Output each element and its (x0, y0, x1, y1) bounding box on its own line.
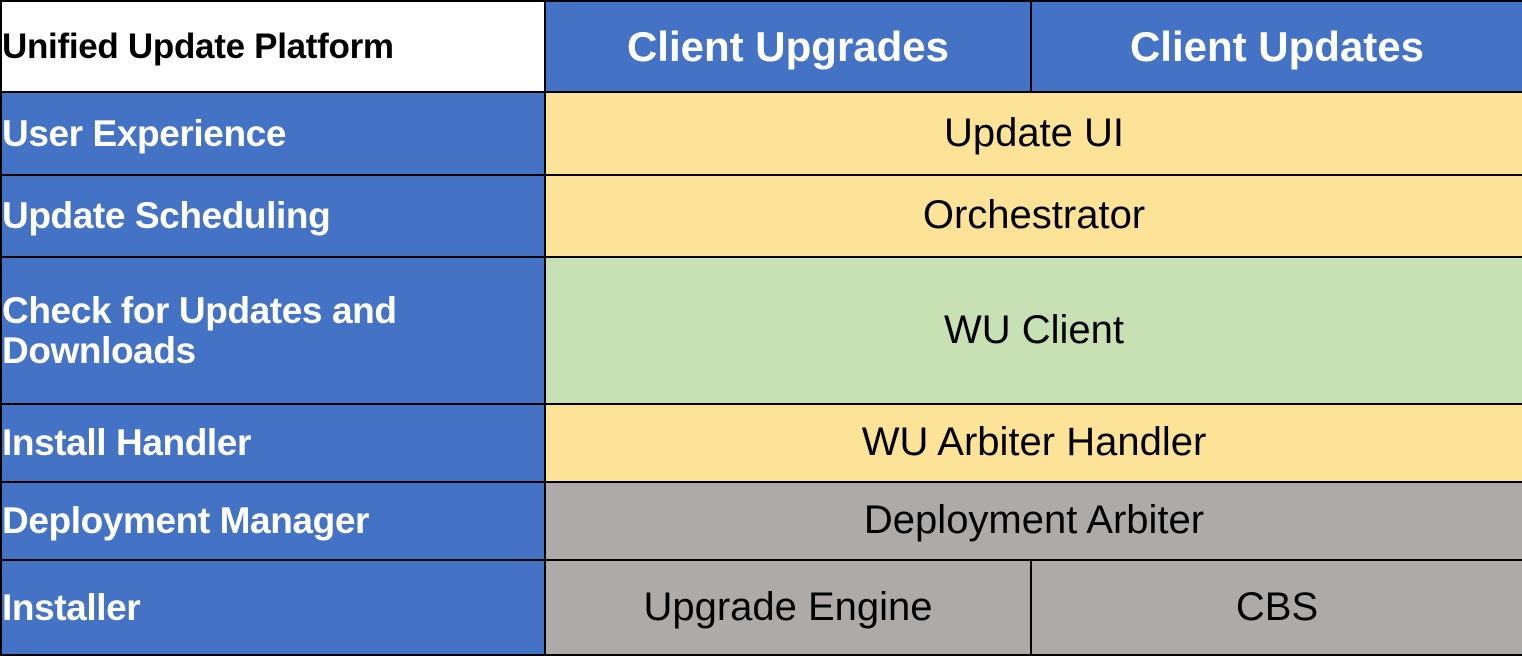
cell-text: Upgrade Engine (546, 586, 1030, 629)
table-row: Installer Upgrade Engine CBS (1, 560, 1522, 655)
row-label-user-experience: User Experience (1, 92, 545, 175)
cell-wu-client: WU Client (545, 257, 1522, 404)
cell-text: WU Arbiter Handler (546, 421, 1522, 464)
table-header-row: Unified Update Platform Client Upgrades … (1, 1, 1522, 92)
cell-cbs: CBS (1031, 560, 1522, 655)
table-row: Install Handler WU Arbiter Handler (1, 404, 1522, 482)
row-label-install-handler: Install Handler (1, 404, 545, 482)
row-label-check-for-updates-and-downloads: Check for Updates and Downloads (1, 257, 545, 404)
row-label-deployment-manager: Deployment Manager (1, 482, 545, 560)
cell-text: CBS (1032, 586, 1522, 629)
cell-text: WU Client (546, 309, 1522, 352)
cell-update-ui: Update UI (545, 92, 1522, 175)
table-title-cell: Unified Update Platform (1, 1, 545, 92)
cell-text: Deployment Arbiter (546, 499, 1522, 542)
row-label-update-scheduling: Update Scheduling (1, 175, 545, 257)
unified-update-platform-table: Unified Update Platform Client Upgrades … (0, 0, 1522, 656)
cell-deployment-arbiter: Deployment Arbiter (545, 482, 1522, 560)
cell-text: Orchestrator (546, 194, 1522, 237)
table-row: Update Scheduling Orchestrator (1, 175, 1522, 257)
cell-text: Update UI (546, 112, 1522, 155)
cell-orchestrator: Orchestrator (545, 175, 1522, 257)
column-header-client-updates: Client Updates (1031, 1, 1522, 92)
table-row: Deployment Manager Deployment Arbiter (1, 482, 1522, 560)
cell-wu-arbiter-handler: WU Arbiter Handler (545, 404, 1522, 482)
cell-upgrade-engine: Upgrade Engine (545, 560, 1031, 655)
table-row: User Experience Update UI (1, 92, 1522, 175)
row-label-installer: Installer (1, 560, 545, 655)
column-header-client-upgrades: Client Upgrades (545, 1, 1031, 92)
table-row: Check for Updates and Downloads WU Clien… (1, 257, 1522, 404)
